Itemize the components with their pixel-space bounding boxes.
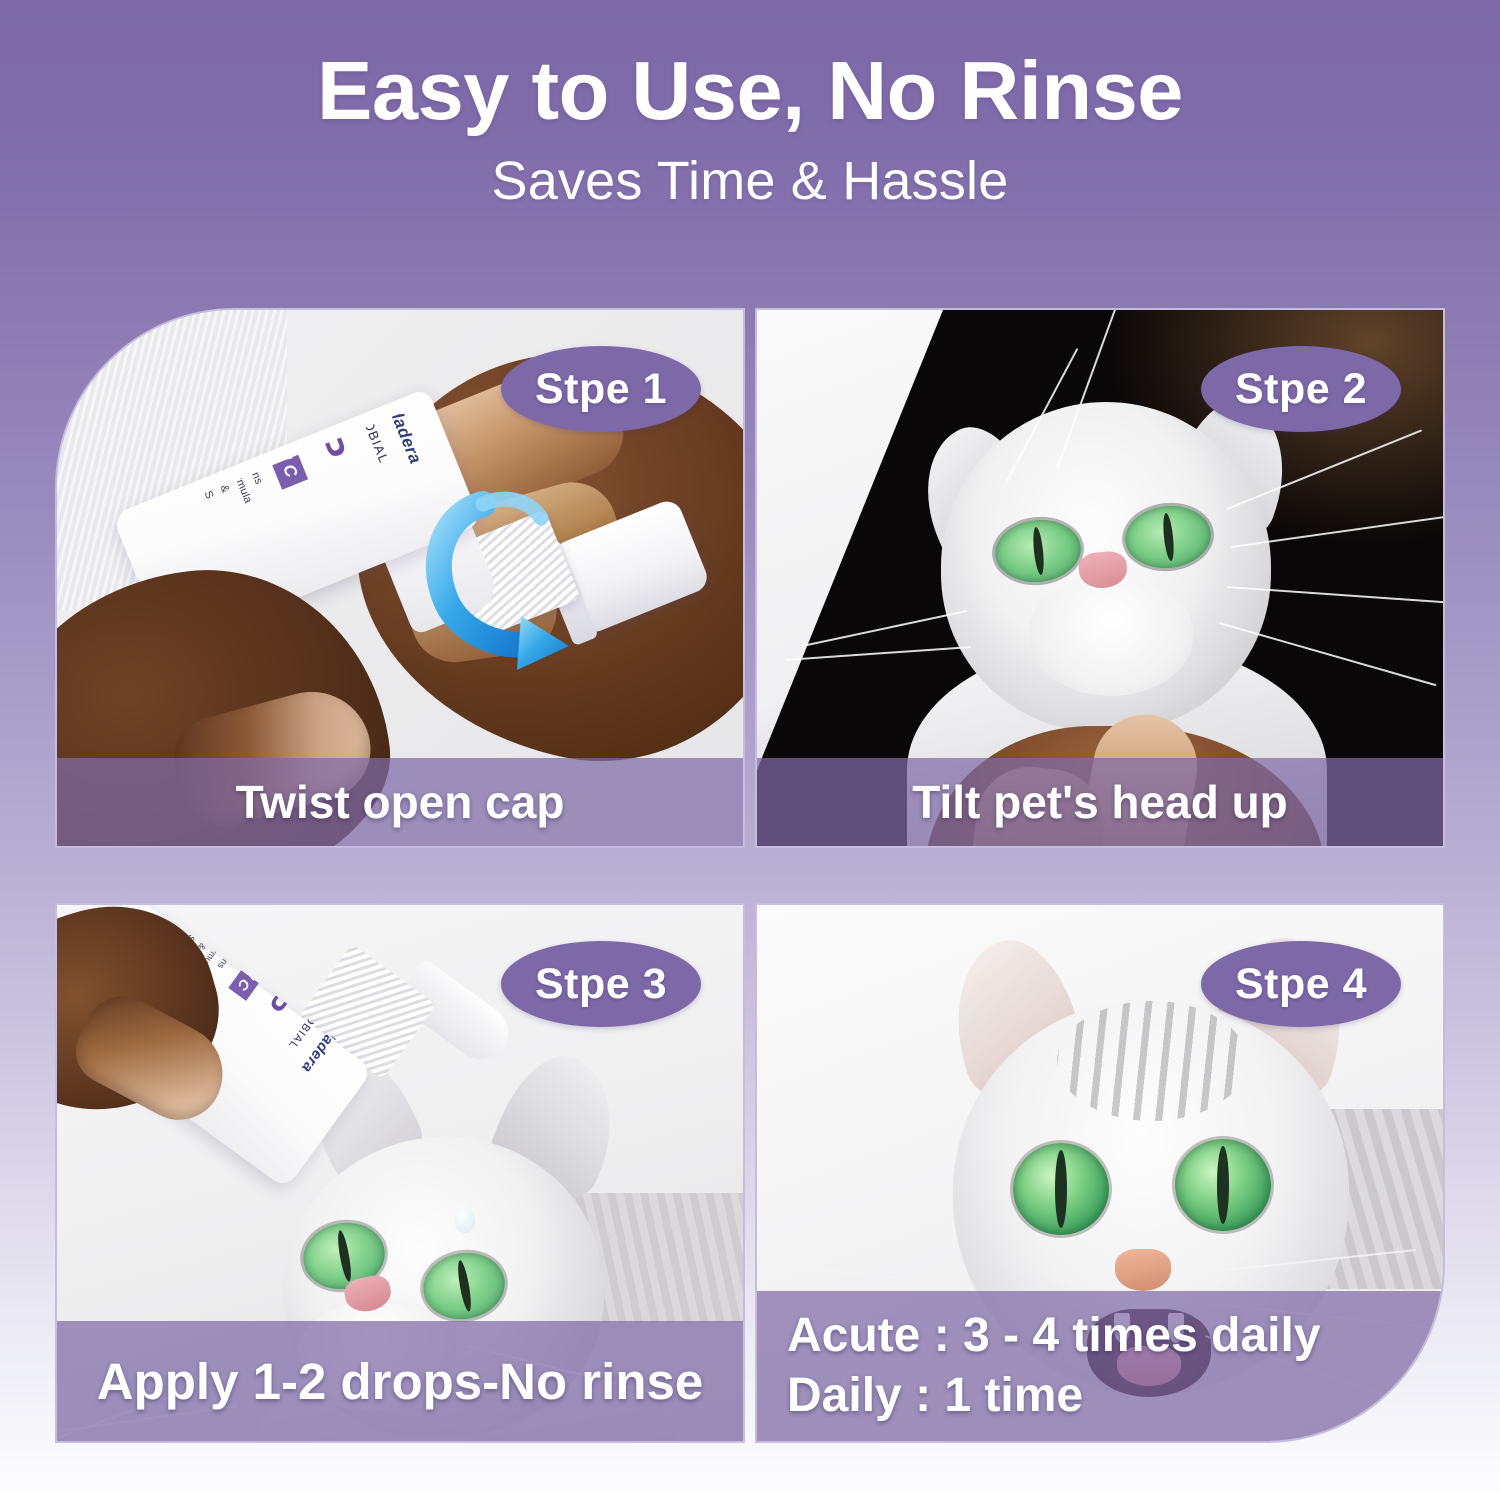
step-4-badge-label: Stpe 4 [1235,960,1367,1009]
step-4-badge: Stpe 4 [1201,941,1401,1027]
step-2-caption-text: Tilt pet's head up [912,775,1288,829]
header: Easy to Use, No Rinse Saves Time & Hassl… [0,0,1500,211]
step-2-badge-label: Stpe 2 [1235,365,1367,414]
step-2-caption: Tilt pet's head up [757,758,1443,846]
step-3-caption: Apply 1-2 drops-No rinse [57,1321,743,1441]
step-4-caption: Acute : 3 - 4 times daily Daily : 1 time [757,1291,1443,1441]
step-4-caption-line-1: Acute : 3 - 4 times daily [787,1306,1321,1366]
steps-grid: Enredadera ANTIMICROBIAL EYE DROP For Do… [55,308,1445,1443]
page-subtitle: Saves Time & Hassle [0,152,1500,211]
step-panel-2[interactable]: Stpe 2 Tilt pet's head up [755,308,1445,848]
step-2-badge: Stpe 2 [1201,346,1401,432]
step-panel-3[interactable]: Enredadera ANTIMICROBIAL EYE DROP For Do… [55,903,745,1443]
step-1-badge: Stpe 1 [501,346,701,432]
step-3-caption-text: Apply 1-2 drops-No rinse [97,1352,703,1411]
step-panel-4[interactable]: Stpe 4 Acute : 3 - 4 times daily Daily :… [755,903,1445,1443]
step-4-caption-line-2: Daily : 1 time [787,1366,1083,1426]
eye-drop-droplet [455,1205,475,1233]
cat-eye-left [1013,1143,1109,1235]
twist-arrow-icon [409,478,619,678]
step-1-caption: Twist open cap [57,758,743,846]
step-panel-1[interactable]: Enredadera ANTIMICROBIAL EYE DROP For Do… [55,308,745,848]
page-title: Easy to Use, No Rinse [0,46,1500,136]
cat-eye-right [1175,1139,1271,1231]
step-1-badge-label: Stpe 1 [535,365,667,414]
step-3-badge-label: Stpe 3 [535,960,667,1009]
step-3-badge: Stpe 3 [501,941,701,1027]
step-1-caption-text: Twist open cap [236,775,565,829]
cat-nose [1115,1249,1171,1291]
